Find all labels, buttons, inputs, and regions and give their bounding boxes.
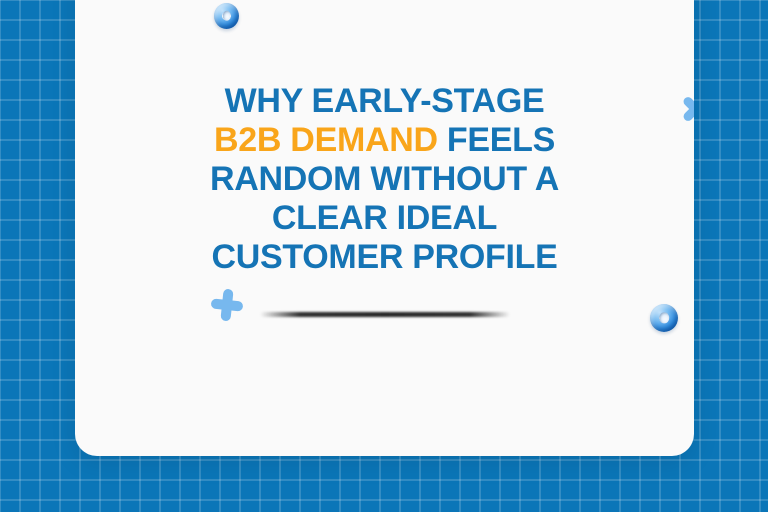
donut-icon bbox=[650, 304, 678, 332]
title-line-2-rest: FEELS bbox=[438, 121, 555, 159]
x-icon bbox=[680, 94, 694, 124]
donut-hole bbox=[659, 312, 669, 323]
donut-hole bbox=[222, 11, 231, 21]
title-line-5: CUSTOMER PROFILE bbox=[212, 238, 558, 276]
donut-icon bbox=[214, 3, 239, 29]
title-accent-b2b-demand: B2B DEMAND bbox=[214, 121, 438, 159]
title-block: WHY EARLY-STAGE B2B DEMAND FEELS RANDOM … bbox=[75, 82, 694, 277]
plus-icon-stroke-vertical bbox=[220, 289, 233, 322]
title-line-1: WHY EARLY-STAGE bbox=[225, 82, 545, 120]
page-title: WHY EARLY-STAGE B2B DEMAND FEELS RANDOM … bbox=[115, 82, 654, 277]
title-underline-divider bbox=[260, 312, 510, 317]
title-line-3: RANDOM WITHOUT A bbox=[210, 160, 559, 198]
title-line-4: CLEAR IDEAL bbox=[272, 199, 497, 237]
title-card: WHY EARLY-STAGE B2B DEMAND FEELS RANDOM … bbox=[75, 0, 694, 456]
plus-icon bbox=[211, 289, 243, 321]
slide-canvas: WHY EARLY-STAGE B2B DEMAND FEELS RANDOM … bbox=[0, 0, 768, 512]
